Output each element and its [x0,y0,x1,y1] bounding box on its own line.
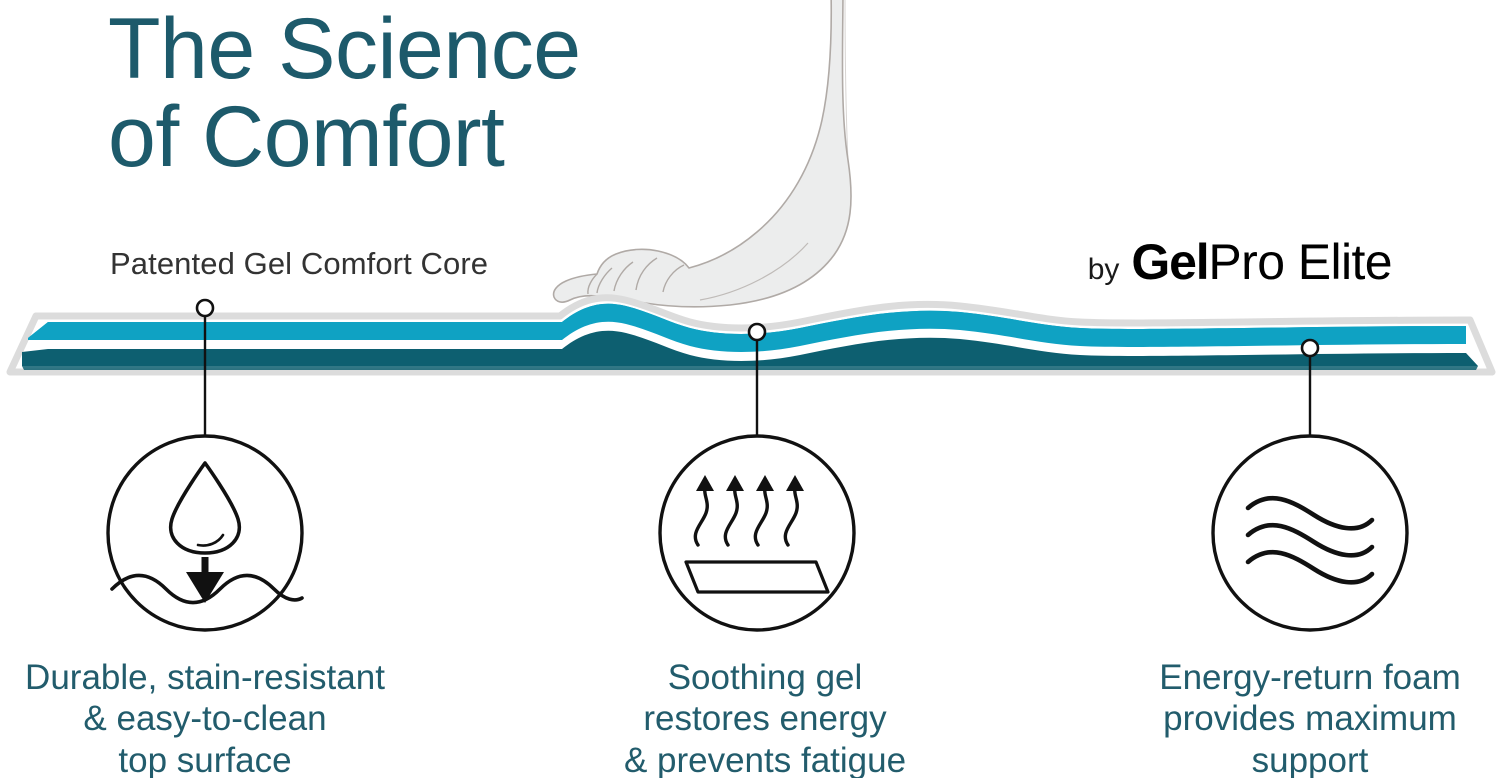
feature-caption-2: Soothing gel restores energy & prevents … [560,657,970,778]
feature-caption-3: Energy-return foam provides maximum supp… [1110,657,1500,778]
wavy-lines-icon-circle [1213,436,1407,630]
leader-dot-top-surface [197,300,213,316]
feature-icon-2 [660,436,854,630]
foot-illustration [554,0,851,307]
leader-dot-gel [749,324,765,340]
feature-caption-1: Durable, stain-resistant & easy-to-clean… [0,657,410,778]
infographic-canvas: The Science of Comfort Patented Gel Comf… [0,0,1500,778]
feature-icon-3 [1213,436,1407,630]
leader-dot-foam [1302,340,1318,356]
mat-parallelogram-icon [686,562,828,592]
feature-icon-1 [108,436,302,630]
